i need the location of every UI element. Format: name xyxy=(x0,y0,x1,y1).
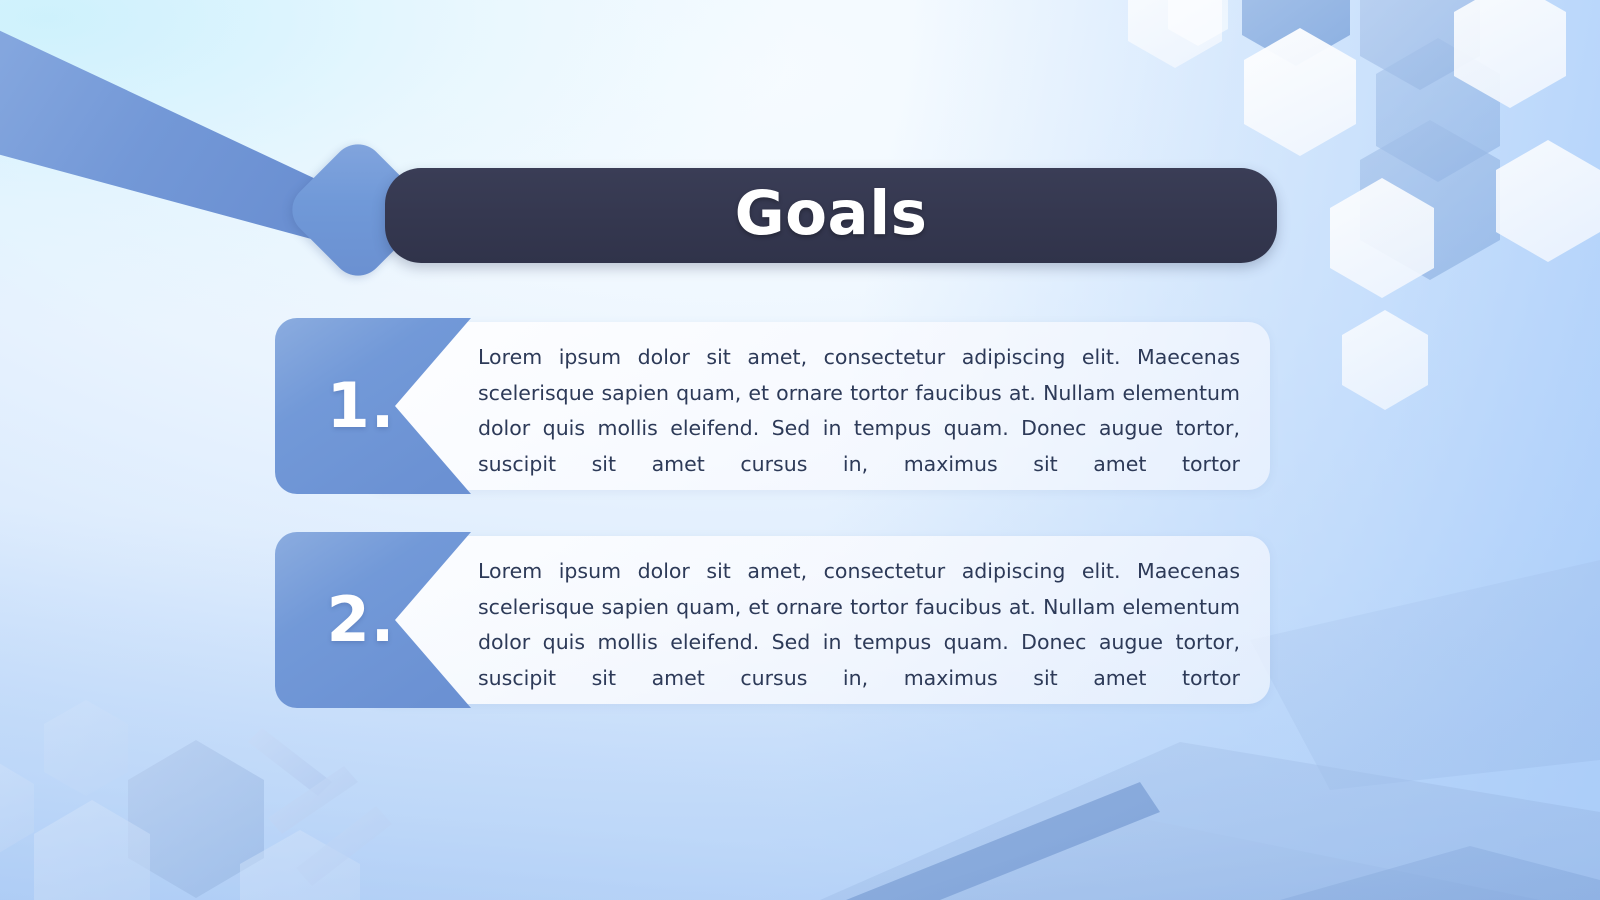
page-title: Goals xyxy=(735,183,928,248)
goal-body-text: Lorem ipsum dolor sit amet, consectetur … xyxy=(478,340,1240,518)
goal-number-label: 1. xyxy=(275,318,425,494)
goal-number-label: 2. xyxy=(275,532,425,708)
slide-title-bar: Goals xyxy=(385,168,1277,263)
goal-body-text: Lorem ipsum dolor sit amet, consectetur … xyxy=(478,554,1240,732)
slide-canvas: Goals 1. Lorem ipsum dolor sit amet, con… xyxy=(0,0,1600,900)
goal-item-2: 2. Lorem ipsum dolor sit amet, consectet… xyxy=(275,532,1270,708)
goal-item-1: 1. Lorem ipsum dolor sit amet, consectet… xyxy=(275,318,1270,494)
